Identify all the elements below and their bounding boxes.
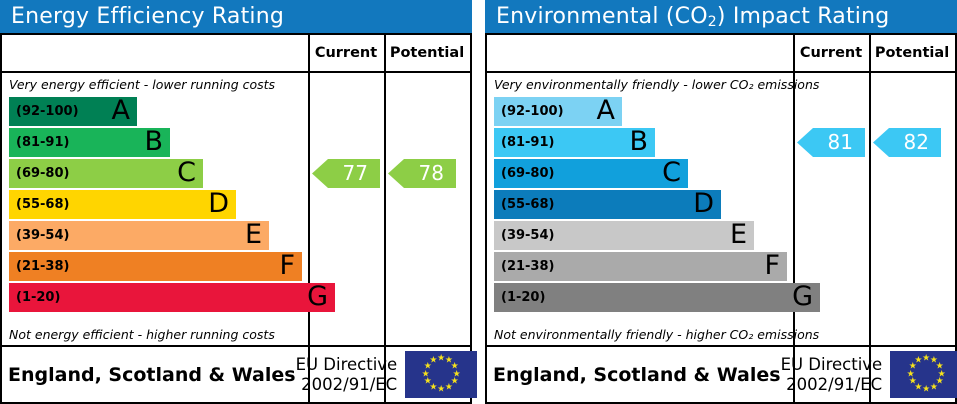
band-list-energy: (92-100) A (81-91) B (69-80) C (55-68) D xyxy=(9,97,335,314)
band-row: (1-20) G xyxy=(9,283,335,312)
band-range: (92-100) xyxy=(501,97,564,126)
chart-title-co2-subscript: 2 xyxy=(708,14,717,30)
column-header-potential-co2: Potential xyxy=(869,35,955,71)
column-header-current-co2: Current xyxy=(793,35,869,71)
caption-top-energy: Very energy efficient - lower running co… xyxy=(9,77,275,92)
band-row: (21-38) F xyxy=(494,252,787,281)
band-range: (69-80) xyxy=(16,159,69,188)
band-letter: B xyxy=(629,128,648,157)
band-letter: E xyxy=(730,221,747,250)
band-letter: C xyxy=(662,159,681,188)
band-range: (92-100) xyxy=(16,97,79,126)
band-letter: F xyxy=(279,252,295,281)
band-row: (55-68) D xyxy=(9,190,236,219)
band-range: (55-68) xyxy=(16,190,69,219)
chart-title-co2-post: ) Impact Rating xyxy=(717,4,890,29)
band-row: (55-68) D xyxy=(494,190,721,219)
footer-region-label-co2: England, Scotland & Wales xyxy=(487,364,781,386)
band-row: (21-38) F xyxy=(9,252,302,281)
band-range: (81-91) xyxy=(16,128,69,157)
footer-directive-energy: EU Directive 2002/91/EC xyxy=(296,355,406,395)
band-row: (81-91) B xyxy=(9,128,170,157)
band-range: (21-38) xyxy=(16,252,69,281)
band-range: (1-20) xyxy=(501,283,545,312)
column-header-current-energy: Current xyxy=(308,35,384,71)
footer-directive-line1: EU Directive xyxy=(781,355,883,375)
chart-body-energy: Current Potential Very energy efficient … xyxy=(0,33,472,404)
footer-directive-line1: EU Directive xyxy=(296,355,398,375)
footer-co2: England, Scotland & Wales EU Directive 2… xyxy=(487,347,955,402)
band-row: (92-100) A xyxy=(9,97,137,126)
co2-impact-rating-chart: Environmental (CO2) Impact Rating Curren… xyxy=(485,0,957,404)
band-range: (39-54) xyxy=(16,221,69,250)
band-row: (92-100) A xyxy=(494,97,622,126)
eu-flag-icon xyxy=(890,351,957,398)
footer-directive-line2: 2002/91/EC xyxy=(296,375,398,395)
band-letter: A xyxy=(597,97,615,126)
caption-bottom-co2: Not environmentally friendly - higher CO… xyxy=(494,327,819,342)
footer-directive-line2: 2002/91/EC xyxy=(781,375,883,395)
header-row-co2: Current Potential xyxy=(487,35,955,73)
potential-rating-arrow-energy: 78 xyxy=(388,159,456,188)
energy-efficiency-rating-chart: Energy Efficiency Rating Current Potenti… xyxy=(0,0,472,404)
chart-title-co2: Environmental (CO2) Impact Rating xyxy=(485,0,957,33)
scale-area-co2: Very environmentally friendly - lower CO… xyxy=(487,73,955,347)
band-range: (1-20) xyxy=(16,283,60,312)
band-letter: D xyxy=(693,190,714,219)
band-letter: A xyxy=(112,97,130,126)
band-row: (69-80) C xyxy=(494,159,688,188)
band-row: (69-80) C xyxy=(9,159,203,188)
band-letter: C xyxy=(177,159,196,188)
band-range: (81-91) xyxy=(501,128,554,157)
band-list-co2: (92-100) A (81-91) B (69-80) C (55-68) D xyxy=(494,97,820,314)
epc-charts-page: Energy Efficiency Rating Current Potenti… xyxy=(0,0,957,404)
band-range: (21-38) xyxy=(501,252,554,281)
band-letter: F xyxy=(764,252,780,281)
band-row: (1-20) G xyxy=(494,283,820,312)
footer-region-label-energy: England, Scotland & Wales xyxy=(2,364,296,386)
band-letter: E xyxy=(245,221,262,250)
band-range: (39-54) xyxy=(501,221,554,250)
band-range: (55-68) xyxy=(501,190,554,219)
potential-rating-arrow-co2: 82 xyxy=(873,128,941,157)
column-header-potential-energy: Potential xyxy=(384,35,470,71)
chart-title-energy: Energy Efficiency Rating xyxy=(0,0,472,33)
caption-bottom-energy: Not energy efficient - higher running co… xyxy=(9,327,275,342)
footer-energy: England, Scotland & Wales EU Directive 2… xyxy=(2,347,470,402)
band-row: (39-54) E xyxy=(494,221,754,250)
band-letter: G xyxy=(792,283,813,312)
eu-flag-icon xyxy=(405,351,477,398)
band-row: (39-54) E xyxy=(9,221,269,250)
caption-top-co2: Very environmentally friendly - lower CO… xyxy=(494,77,819,92)
footer-directive-co2: EU Directive 2002/91/EC xyxy=(781,355,891,395)
chart-body-co2: Current Potential Very environmentally f… xyxy=(485,33,957,404)
band-letter: G xyxy=(307,283,328,312)
scale-area-energy: Very energy efficient - lower running co… xyxy=(2,73,470,347)
band-range: (69-80) xyxy=(501,159,554,188)
band-letter: B xyxy=(144,128,163,157)
band-letter: D xyxy=(208,190,229,219)
header-row-energy: Current Potential xyxy=(2,35,470,73)
chart-title-co2-pre: Environmental (CO xyxy=(496,4,708,29)
band-row: (81-91) B xyxy=(494,128,655,157)
